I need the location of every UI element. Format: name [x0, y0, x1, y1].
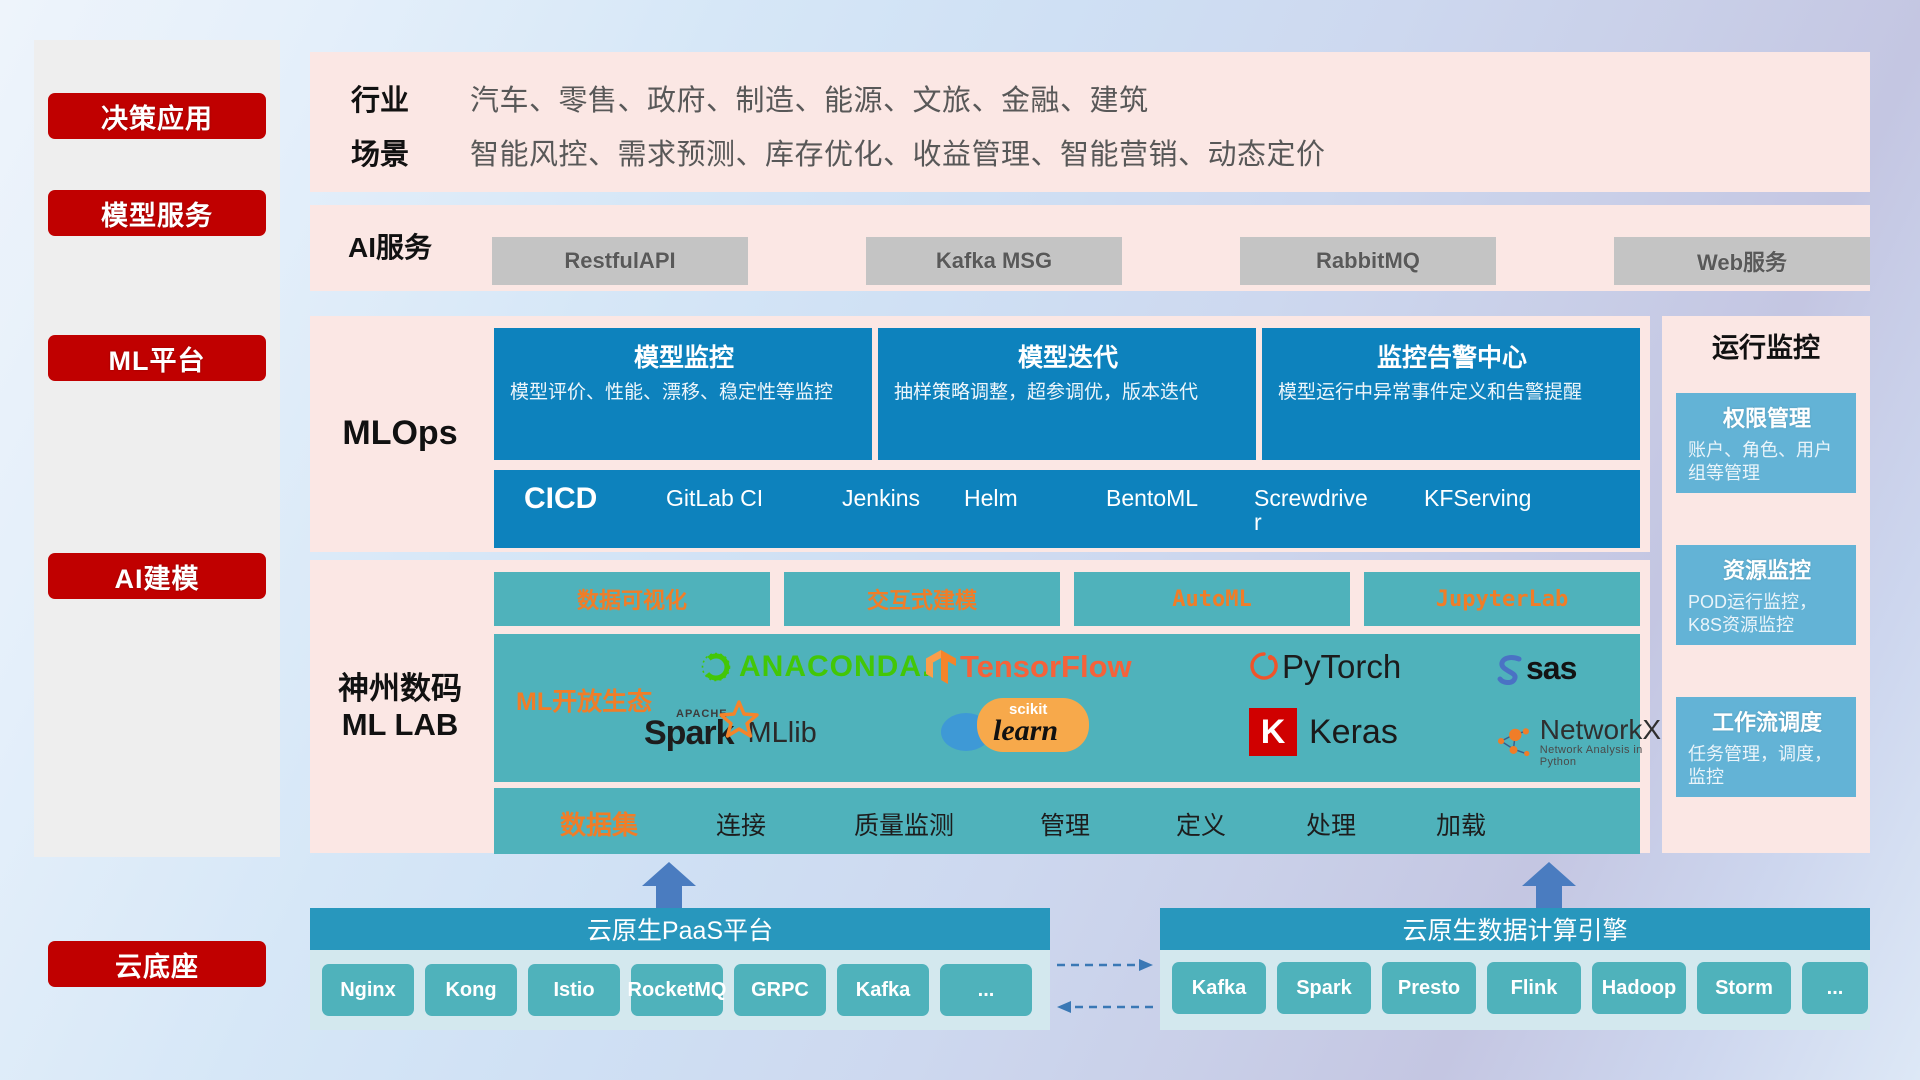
scenario-list: 智能风控、需求预测、库存优化、收益管理、智能营销、动态定价: [470, 131, 1326, 173]
ml-ecosystem-label: ML开放生态: [516, 682, 652, 718]
lab-chip-jupyterlab[interactable]: JupyterLab: [1364, 572, 1640, 626]
mlops-card-model-iteration[interactable]: 模型迭代 抽样策略调整，超参调优，版本迭代: [878, 328, 1256, 460]
card-description: 模型评价、性能、漂移、稳定性等监控: [510, 381, 858, 406]
dataset-item-manage[interactable]: 管理: [1040, 806, 1090, 842]
paas-chip-kong[interactable]: Kong: [425, 964, 517, 1016]
paas-chip-nginx[interactable]: Nginx: [322, 964, 414, 1016]
ml-lab-label-line2: ML LAB: [342, 707, 459, 743]
anaconda-logo: ANACONDA.: [699, 650, 931, 684]
bidirectional-dashed-connector: [1055, 955, 1155, 1025]
service-chip-rabbitmq[interactable]: RabbitMQ: [1240, 237, 1496, 285]
engine-chip-flink[interactable]: Flink: [1487, 962, 1581, 1014]
dataset-item-define[interactable]: 定义: [1176, 806, 1226, 842]
paas-header: 云原生PaaS平台: [310, 908, 1050, 950]
networkx-graph-icon: [1494, 721, 1535, 763]
tensorflow-logo: TensorFlow: [924, 648, 1132, 686]
keras-logo: K Keras: [1249, 708, 1398, 756]
service-chip-restfulapi[interactable]: RestfulAPI: [492, 237, 748, 285]
engine-chip-kafka[interactable]: Kafka: [1172, 962, 1266, 1014]
pytorch-flame-icon: [1249, 650, 1279, 684]
cicd-toolbar: CICD GitLab CI Jenkins Helm BentoML Scre…: [494, 470, 1640, 548]
service-chip-web-service[interactable]: Web服务: [1614, 237, 1870, 285]
monitor-card-resource[interactable]: 资源监控 POD运行监控，K8S资源监控: [1676, 545, 1856, 645]
networkx-wordmark: NetworkX: [1540, 716, 1667, 744]
engine-chip-presto[interactable]: Presto: [1382, 962, 1476, 1014]
layer-button-cloud-base[interactable]: 云底座: [48, 941, 266, 987]
service-chip-kafka-msg[interactable]: Kafka MSG: [866, 237, 1122, 285]
spark-mllib-logo: APACHE Spark MLlib: [644, 714, 817, 753]
learn-wordmark: learn: [993, 714, 1058, 748]
card-description: POD运行监控，K8S资源监控: [1688, 591, 1846, 637]
lab-chip-data-visualization[interactable]: 数据可视化: [494, 572, 770, 626]
paas-chip-istio[interactable]: Istio: [528, 964, 620, 1016]
cicd-item-jenkins[interactable]: Jenkins: [842, 486, 962, 510]
lab-chip-automl[interactable]: AutoML: [1074, 572, 1350, 626]
ai-service-label: AI服务: [310, 205, 470, 291]
card-description: 账户、角色、用户组等管理: [1688, 439, 1846, 485]
cicd-item-helm[interactable]: Helm: [964, 486, 1084, 510]
scikit-learn-logo: scikit learn: [939, 706, 993, 754]
paas-chip-rocketmq[interactable]: RocketMQ: [631, 964, 723, 1016]
cicd-item-bentoml[interactable]: BentoML: [1106, 486, 1226, 510]
anaconda-mark-icon: [699, 650, 733, 684]
layer-button-ai-modeling[interactable]: AI建模: [48, 553, 266, 599]
mlops-card-alert-center[interactable]: 监控告警中心 模型运行中异常事件定义和告警提醒: [1262, 328, 1640, 460]
layer-button-decision-app[interactable]: 决策应用: [48, 93, 266, 139]
paas-up-arrow-icon: [640, 860, 698, 908]
pytorch-wordmark: PyTorch: [1282, 648, 1401, 686]
industry-label: 行业: [310, 77, 450, 119]
decision-application-panel: 行业 汽车、零售、政府、制造、能源、文旅、金融、建筑 场景 智能风控、需求预测、…: [310, 52, 1870, 192]
spark-star-icon: [718, 700, 760, 740]
paas-chip-more[interactable]: ...: [940, 964, 1032, 1016]
networkx-logo: NetworkX Network Analysis in Python: [1494, 716, 1666, 768]
dataset-item-connect[interactable]: 连接: [716, 806, 766, 842]
industry-row: 行业 汽车、零售、政府、制造、能源、文旅、金融、建筑: [310, 74, 1870, 122]
tensorflow-mark-icon: [924, 648, 958, 686]
card-description: 抽样策略调整，超参调优，版本迭代: [894, 381, 1242, 406]
data-engine-header: 云原生数据计算引擎: [1160, 908, 1870, 950]
dataset-item-quality-check[interactable]: 质量监测: [854, 806, 954, 842]
runtime-monitoring-title: 运行监控: [1662, 326, 1870, 365]
cicd-item-screwdriver[interactable]: Screwdriver: [1254, 486, 1374, 534]
keras-wordmark: Keras: [1309, 713, 1398, 752]
networkx-tagline: Network Analysis in Python: [1540, 744, 1667, 768]
paas-chip-kafka[interactable]: Kafka: [837, 964, 929, 1016]
scenario-row: 场景 智能风控、需求预测、库存优化、收益管理、智能营销、动态定价: [310, 128, 1870, 176]
data-engine-up-arrow-icon: [1520, 860, 1578, 908]
engine-chip-more[interactable]: ...: [1802, 962, 1868, 1014]
paas-chip-grpc[interactable]: GRPC: [734, 964, 826, 1016]
card-title: 工作流调度: [1688, 705, 1846, 737]
ml-lab-label-line1: 神州数码: [338, 671, 462, 707]
engine-chip-hadoop[interactable]: Hadoop: [1592, 962, 1686, 1014]
tensorflow-wordmark: TensorFlow: [960, 649, 1132, 685]
engine-chip-storm[interactable]: Storm: [1697, 962, 1791, 1014]
mlops-card-model-monitoring[interactable]: 模型监控 模型评价、性能、漂移、稳定性等监控: [494, 328, 872, 460]
card-title: 权限管理: [1688, 401, 1846, 433]
dataset-item-process[interactable]: 处理: [1306, 806, 1356, 842]
ml-lab-label: 神州数码 ML LAB: [310, 560, 490, 853]
lab-chip-interactive-modeling[interactable]: 交互式建模: [784, 572, 1060, 626]
layer-button-ml-platform[interactable]: ML平台: [48, 335, 266, 381]
engine-chip-spark[interactable]: Spark: [1277, 962, 1371, 1014]
card-title: 监控告警中心: [1278, 338, 1626, 374]
cicd-item-kfserving[interactable]: KFServing: [1424, 486, 1544, 510]
ml-ecosystem-box: ML开放生态 ANACONDA. TensorFlow PyTorch sas: [494, 634, 1640, 782]
dataset-label: 数据集: [560, 805, 638, 842]
cicd-item-gitlab-ci[interactable]: GitLab CI: [666, 486, 786, 510]
left-layer-rail: 决策应用 模型服务 ML平台 AI建模: [34, 40, 280, 857]
card-description: 任务管理，调度，监控: [1688, 743, 1846, 789]
sas-wordmark: sas: [1526, 650, 1576, 687]
pytorch-logo: PyTorch: [1249, 648, 1401, 686]
scenario-label: 场景: [310, 131, 450, 173]
card-title: 资源监控: [1688, 553, 1846, 585]
dataset-toolbar: 数据集 连接 质量监测 管理 定义 处理 加载: [494, 788, 1640, 854]
card-title: 模型迭代: [894, 338, 1242, 374]
cicd-label: CICD: [524, 482, 597, 516]
card-title: 模型监控: [510, 338, 858, 374]
mlops-label: MLOps: [310, 316, 490, 552]
anaconda-wordmark: ANACONDA.: [739, 650, 931, 684]
sas-mark-icon: [1494, 653, 1528, 685]
dataset-item-load[interactable]: 加载: [1436, 806, 1486, 842]
keras-mark-icon: K: [1249, 708, 1297, 756]
card-description: 模型运行中异常事件定义和告警提醒: [1278, 381, 1626, 406]
sas-logo: sas: [1494, 650, 1576, 687]
monitor-card-permission[interactable]: 权限管理 账户、角色、用户组等管理: [1676, 393, 1856, 493]
monitor-card-workflow[interactable]: 工作流调度 任务管理，调度，监控: [1676, 697, 1856, 797]
industry-list: 汽车、零售、政府、制造、能源、文旅、金融、建筑: [470, 77, 1149, 119]
layer-button-model-service[interactable]: 模型服务: [48, 190, 266, 236]
